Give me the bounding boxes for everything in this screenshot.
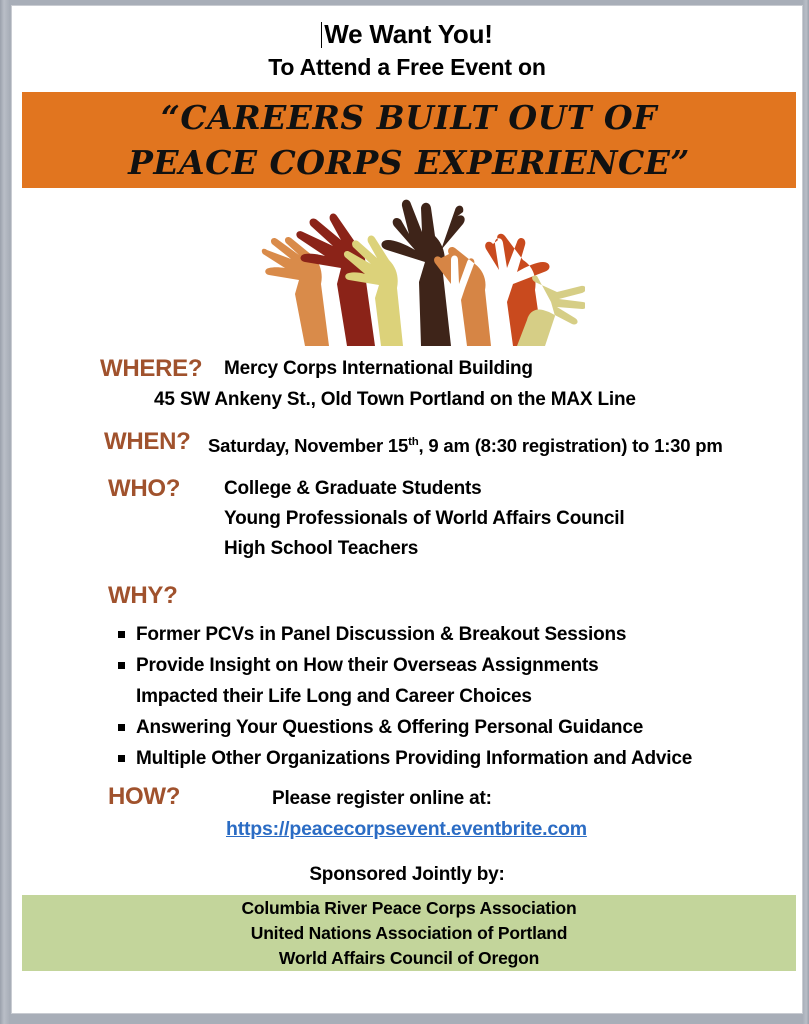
when-date-prefix: Saturday, November 15 bbox=[208, 435, 408, 456]
sponsors-heading: Sponsored Jointly by: bbox=[12, 864, 802, 886]
who-item-0: College & Graduate Students bbox=[224, 474, 624, 504]
headline-primary: We Want You! bbox=[12, 19, 802, 49]
flyer-body: WHERE? Mercy Corps International Buildin… bbox=[12, 354, 802, 886]
list-item: Provide Insight on How their Overseas As… bbox=[136, 650, 802, 712]
where-label: WHERE? bbox=[100, 354, 224, 384]
why-label: WHY? bbox=[108, 582, 177, 609]
square-bullet-icon bbox=[118, 724, 125, 731]
square-bullet-icon bbox=[118, 662, 125, 669]
right-scroll-gutter[interactable] bbox=[803, 0, 809, 1024]
when-datetime: Saturday, November 15th, 9 am (8:30 regi… bbox=[208, 427, 723, 461]
flyer-header: We Want You! To Attend a Free Event on bbox=[12, 6, 802, 81]
when-time-suffix: , 9 am (8:30 registration) to 1:30 pm bbox=[419, 435, 723, 456]
flyer-page: We Want You! To Attend a Free Event on “… bbox=[11, 5, 803, 1014]
sponsor-org-1: United Nations Association of Portland bbox=[251, 921, 568, 946]
sponsor-org-2: World Affairs Council of Oregon bbox=[279, 946, 539, 971]
who-item-2: High School Teachers bbox=[224, 534, 624, 564]
registration-link[interactable]: https://peacecorpsevent.eventbrite.com bbox=[226, 814, 587, 844]
who-item-1: Young Professionals of World Affairs Cou… bbox=[224, 504, 624, 534]
text-caret bbox=[321, 22, 322, 48]
how-label: HOW? bbox=[108, 782, 272, 812]
event-title-band: “CAREERS BUILT OUT OF PEACE CORPS EXPERI… bbox=[22, 92, 796, 188]
sponsors-band: Columbia River Peace Corps Association U… bbox=[22, 895, 796, 971]
raised-hands-illustration bbox=[255, 198, 585, 353]
section-where: WHERE? Mercy Corps International Buildin… bbox=[12, 354, 802, 384]
who-label: WHO? bbox=[108, 474, 224, 504]
where-address: 45 SW Ankeny St., Old Town Portland on t… bbox=[12, 385, 802, 415]
who-audience-list: College & Graduate Students Young Profes… bbox=[224, 474, 624, 564]
why-bullet-2-line1: Answering Your Questions & Offering Pers… bbox=[136, 717, 643, 738]
event-title-line1: “CAREERS BUILT OUT OF bbox=[161, 95, 657, 140]
event-title-line2: PEACE CORPS EXPERIENCE” bbox=[128, 140, 690, 185]
when-ordinal-suffix: th bbox=[408, 436, 418, 448]
section-who: WHO? College & Graduate Students Young P… bbox=[12, 474, 802, 564]
why-bullet-3-line1: Multiple Other Organizations Providing I… bbox=[136, 748, 692, 769]
list-item: Former PCVs in Panel Discussion & Breako… bbox=[136, 619, 802, 650]
list-item: Multiple Other Organizations Providing I… bbox=[136, 743, 802, 774]
why-bullet-1-line1: Provide Insight on How their Overseas As… bbox=[136, 655, 599, 676]
how-instruction: Please register online at: bbox=[272, 788, 492, 809]
section-why: WHY? bbox=[12, 581, 802, 611]
left-scroll-gutter[interactable] bbox=[0, 0, 9, 1024]
why-bullet-0-line1: Former PCVs in Panel Discussion & Breako… bbox=[136, 624, 626, 645]
section-how: HOW? Please register online at: https://… bbox=[12, 782, 802, 844]
sponsor-org-0: Columbia River Peace Corps Association bbox=[241, 896, 576, 921]
where-venue: Mercy Corps International Building bbox=[224, 354, 533, 384]
list-item: Answering Your Questions & Offering Pers… bbox=[136, 712, 802, 743]
section-when: WHEN? Saturday, November 15th, 9 am (8:3… bbox=[12, 427, 802, 461]
when-label: WHEN? bbox=[104, 427, 208, 457]
why-bullet-list: Former PCVs in Panel Discussion & Breako… bbox=[12, 619, 802, 774]
headline-line1: We Want You! bbox=[324, 19, 493, 49]
headline-line2: To Attend a Free Event on bbox=[12, 53, 802, 81]
square-bullet-icon bbox=[118, 755, 125, 762]
how-registration-block: Please register online at: https://peace… bbox=[272, 782, 587, 844]
document-viewer: We Want You! To Attend a Free Event on “… bbox=[0, 0, 809, 1024]
square-bullet-icon bbox=[118, 631, 125, 638]
why-bullet-1-line2: Impacted their Life Long and Career Choi… bbox=[136, 681, 802, 712]
